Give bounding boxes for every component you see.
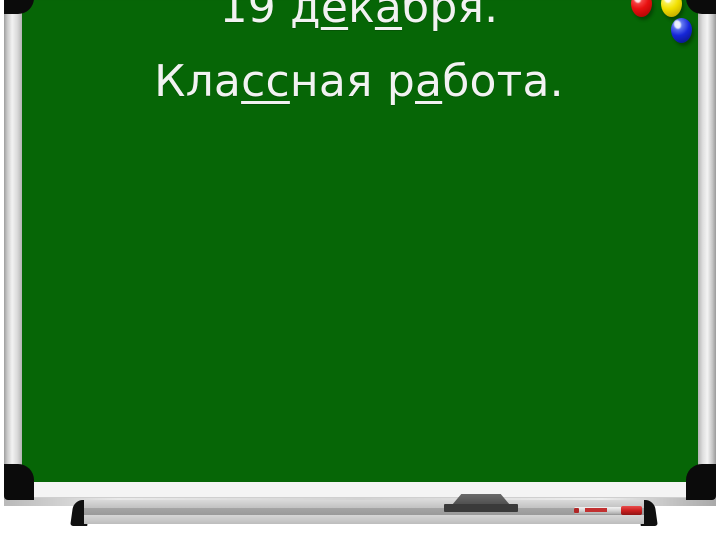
board-writing-surface <box>18 0 700 482</box>
magnet-red-highlight <box>633 0 642 4</box>
red-marker-icon[interactable] <box>574 506 642 515</box>
magnet-yellow-highlight <box>663 0 672 4</box>
magnet-blue-highlight <box>673 19 682 30</box>
marker-tray <box>84 500 644 520</box>
board-eraser-icon[interactable] <box>444 494 518 512</box>
board-rail-right <box>698 0 716 500</box>
marker-label-band <box>585 508 607 512</box>
tray-surface-lip <box>84 515 644 524</box>
marker-tip <box>574 508 579 513</box>
board-corner-bottom-left <box>4 464 34 500</box>
slide-canvas: 19 декабря́. Классная работа. <box>0 0 720 540</box>
board-rail-left <box>4 0 22 500</box>
chalkboard: 19 декабря́. Классная работа. <box>0 0 720 518</box>
board-corner-bottom-right <box>686 464 716 500</box>
tray-surface-middle <box>84 508 644 515</box>
eraser-pad <box>444 504 518 512</box>
tray-surface-top <box>84 500 644 508</box>
marker-cap <box>621 506 642 515</box>
